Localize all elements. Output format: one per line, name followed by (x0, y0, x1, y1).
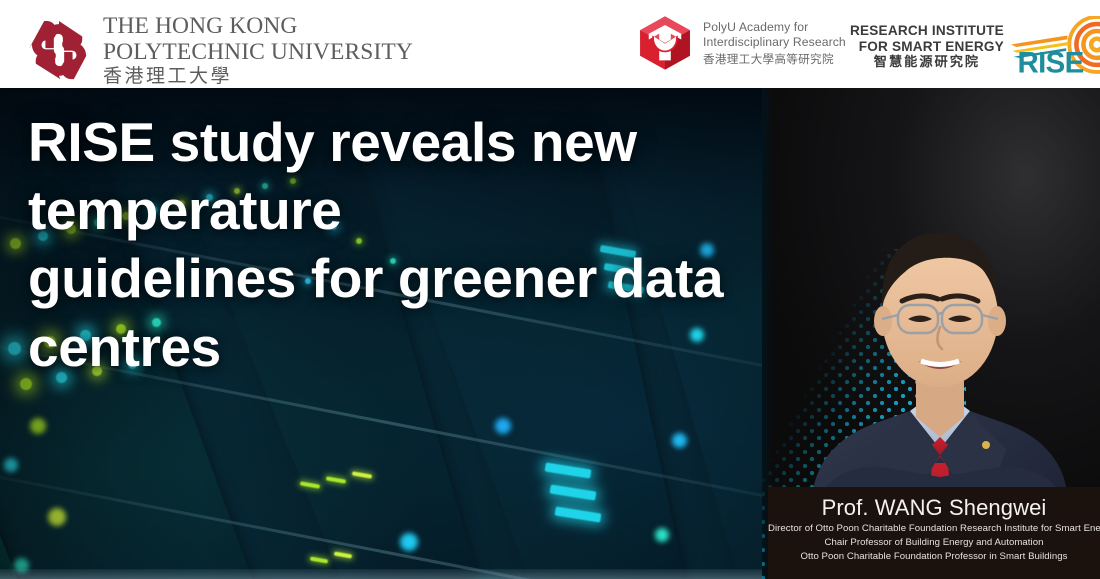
news-banner-page: THE HONG KONG POLYTECHNIC UNIVERSITY 香港理… (0, 0, 1100, 579)
polyu-knot-icon (26, 19, 92, 81)
pair-logo-lockup[interactable]: PolyU Academy for Interdisciplinary Rese… (636, 14, 846, 72)
speaker-role-line-2: Chair Professor of Building Energy and A… (768, 536, 1100, 550)
logo-header-bar: THE HONG KONG POLYTECHNIC UNIVERSITY 香港理… (0, 0, 1100, 88)
headline-line-2: guidelines for greener data centres (28, 247, 723, 377)
pair-name-line1: PolyU Academy for (703, 20, 846, 35)
rise-name-line1: RESEARCH INSTITUTE (850, 23, 1004, 38)
pair-name-chinese: 香港理工大學高等研究院 (703, 52, 846, 66)
image-bottom-strip (0, 569, 790, 579)
polyu-wordmark: THE HONG KONG POLYTECHNIC UNIVERSITY 香港理… (103, 13, 413, 86)
rise-name-chinese: 智慧能源研究院 (850, 56, 1004, 71)
speaker-name: Prof. WANG Shengwei (768, 495, 1100, 520)
page-title: RISE study reveals new temperature guide… (28, 108, 908, 381)
pair-cube-icon (636, 14, 694, 72)
polyu-name-line1: THE HONG KONG (103, 15, 413, 39)
speaker-role-line-1: Director of Otto Poon Charitable Foundat… (768, 522, 1100, 536)
hero-banner: RISE study reveals new temperature guide… (0, 88, 1100, 579)
pair-wordmark: PolyU Academy for Interdisciplinary Rese… (703, 20, 846, 66)
pair-name-line2: Interdisciplinary Research (703, 35, 846, 50)
rise-name-line2: FOR SMART ENERGY (850, 39, 1004, 54)
speaker-role-line-3: Otto Poon Charitable Foundation Professo… (768, 550, 1100, 564)
polyu-name-chinese: 香港理工大學 (103, 67, 413, 86)
svg-text:RISE: RISE (1017, 47, 1083, 78)
polyu-name-line2: POLYTECHNIC UNIVERSITY (103, 41, 413, 65)
speaker-caption-box: Prof. WANG Shengwei Director of Otto Poo… (768, 487, 1100, 579)
rise-wordmark-text: RESEARCH INSTITUTE FOR SMART ENERGY 智慧能源… (850, 23, 1004, 70)
headline-line-1: RISE study reveals new temperature (28, 111, 637, 241)
rise-sunburst-icon: RISE (1004, 16, 1100, 78)
rise-logo-lockup[interactable]: RESEARCH INSTITUTE FOR SMART ENERGY 智慧能源… (850, 16, 1100, 78)
polyu-logo-lockup[interactable]: THE HONG KONG POLYTECHNIC UNIVERSITY 香港理… (26, 13, 413, 86)
